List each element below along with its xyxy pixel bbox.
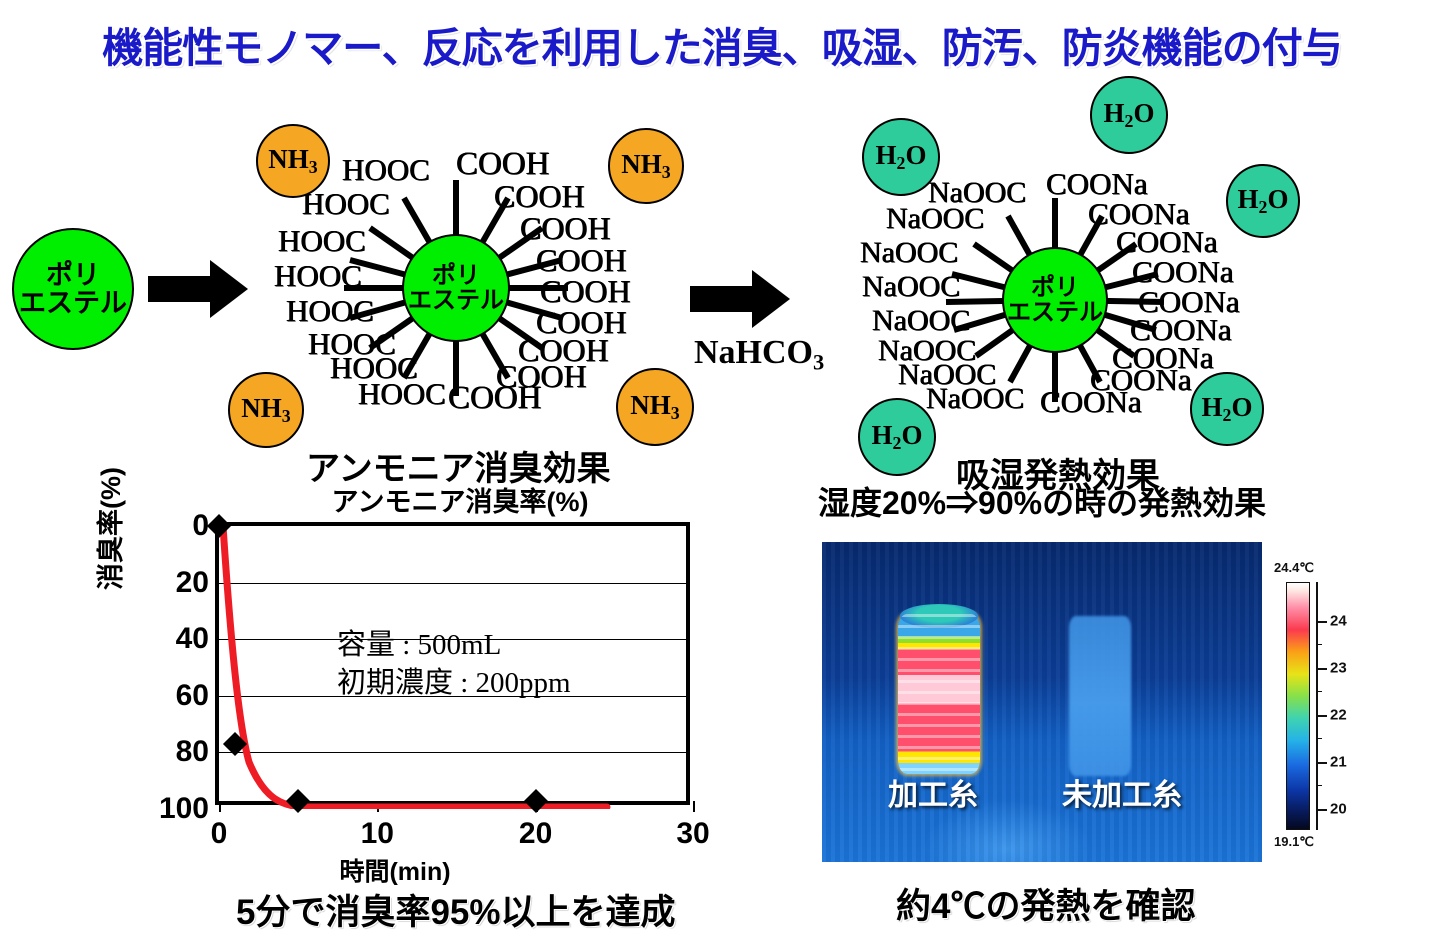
- temperature-colorbar: [1286, 582, 1310, 830]
- thermal-image-block: 加工糸 未加工糸 24.4℃ 19.1℃ 24 23 22 21 20: [822, 542, 1350, 862]
- thermal-heading: 湿度20%⇒90%の時の発熱効果: [818, 478, 1266, 524]
- chart-annotation: 容量 : 500mL: [337, 621, 501, 663]
- ligand-hooc: HOOC: [302, 188, 390, 219]
- polyester-line1: ポリ: [1031, 275, 1079, 300]
- arrow-shaft: [690, 286, 756, 312]
- h2o-formula: H2O: [876, 142, 927, 173]
- chart-x-axis-label: 時間(min): [339, 852, 450, 888]
- arrow-head: [752, 270, 790, 328]
- colorbar-tick: [1316, 668, 1327, 670]
- polyester-circle-start: ポリ エステル: [12, 228, 134, 350]
- h2o-molecule: H2O: [1190, 372, 1264, 446]
- arrow-head: [210, 260, 248, 318]
- h2o-molecule: H2O: [1090, 76, 1168, 154]
- reaction-arrow-1: [148, 260, 252, 318]
- nh3-formula: NH3: [241, 395, 290, 426]
- colorbar-tick-label: 21: [1330, 754, 1347, 771]
- ligand-cooh: COOH: [448, 382, 542, 415]
- sample-ribs: [898, 614, 980, 774]
- x-tick-label: 30: [676, 817, 709, 851]
- polyester-circle-carboxyl: ポリ エステル: [402, 234, 510, 342]
- ligand-cooh: COOH: [536, 244, 627, 276]
- h2o-formula: H2O: [1104, 100, 1155, 131]
- h2o-molecule: H2O: [862, 118, 940, 196]
- h2o-formula: H2O: [1202, 394, 1253, 425]
- thermal-photo: 加工糸 未加工糸: [822, 542, 1262, 862]
- ligand-hooc: HOOC: [274, 260, 362, 291]
- y-tick-label: 40: [176, 622, 209, 656]
- reagent-label: NaHCO3: [694, 334, 824, 376]
- colorbar-tick: [1316, 809, 1327, 811]
- slide-root: 機能性モノマー、反応を利用した消臭、吸湿、防汚、防炎機能の付与 ポリ エステル: [0, 0, 1444, 952]
- colorbar-max-label: 24.4℃: [1274, 560, 1314, 576]
- h2o-molecule: H2O: [858, 398, 936, 476]
- h2o-formula: H2O: [1238, 186, 1289, 217]
- ligand-hooc: HOOC: [286, 295, 374, 326]
- polyester-line2: エステル: [408, 288, 504, 313]
- colorbar-min-label: 19.1℃: [1274, 834, 1314, 850]
- ligand-coona: COONa: [1040, 386, 1142, 417]
- unprocessed-yarn-sample: [1069, 616, 1131, 776]
- chart-y-axis-label: 消臭率(%): [89, 467, 128, 590]
- polyester-line2: エステル: [1007, 300, 1103, 325]
- ligand-naooc: NaOOC: [886, 204, 984, 234]
- polyester-circle-carboxylate: ポリ エステル: [1002, 247, 1108, 353]
- ligand-cooh: COOH: [520, 212, 611, 244]
- thermal-caption: 約4℃の発熱を確認: [896, 878, 1195, 929]
- chart-plot-area: 0 20 40 60 80 100 0 10 20 30: [215, 522, 690, 805]
- colorbar-tick-label: 23: [1330, 660, 1347, 677]
- y-tick-label: 100: [159, 792, 209, 826]
- ligand-cooh: COOH: [456, 148, 550, 181]
- colorbar-minor-tick: [1316, 738, 1322, 739]
- ligand-hooc: HOOC: [278, 225, 366, 256]
- ligand-hooc: HOOC: [358, 378, 446, 409]
- processed-yarn-label: 加工糸: [888, 770, 978, 814]
- chart-title: アンモニア消臭率(%): [295, 480, 625, 519]
- colorbar-tick-label: 22: [1330, 707, 1347, 724]
- ligand-cooh: COOH: [494, 180, 585, 212]
- colorbar-tick: [1316, 762, 1327, 764]
- ligand-naooc: NaOOC: [862, 272, 960, 302]
- colorbar-minor-tick: [1316, 644, 1322, 645]
- thermal-noise-overlay: [822, 542, 1262, 862]
- colorbar-tick: [1316, 715, 1327, 717]
- nh3-molecule: NH3: [616, 368, 694, 446]
- colorbar-minor-tick: [1316, 691, 1322, 692]
- colorbar-tick-label: 24: [1330, 613, 1347, 630]
- polyester-line1: ポリ: [432, 263, 480, 288]
- nh3-formula: NH3: [268, 146, 317, 177]
- x-tick-label: 10: [361, 817, 394, 851]
- colorbar-tick: [1316, 621, 1327, 623]
- chart-caption: 5分で消臭率95%以上を達成: [236, 884, 676, 935]
- reaction-arrow-2: [690, 270, 794, 328]
- nh3-molecule: NH3: [256, 124, 330, 198]
- polyester-line2: エステル: [19, 289, 127, 317]
- arrow-shaft: [148, 276, 214, 302]
- ligand-hooc: HOOC: [342, 154, 430, 185]
- x-tick-label: 20: [519, 817, 552, 851]
- colorbar-minor-tick: [1316, 785, 1322, 786]
- nh3-molecule: NH3: [608, 128, 684, 204]
- y-tick-label: 20: [176, 566, 209, 600]
- h2o-molecule: H2O: [1226, 164, 1300, 238]
- y-tick-label: 60: [176, 679, 209, 713]
- page-title: 機能性モノマー、反応を利用した消臭、吸湿、防汚、防炎機能の付与: [0, 14, 1444, 74]
- nh3-formula: NH3: [621, 151, 670, 182]
- ligand-coona: COONa: [1046, 168, 1148, 199]
- nh3-formula: NH3: [630, 392, 679, 423]
- unprocessed-yarn-label: 未加工糸: [1062, 770, 1182, 814]
- y-tick-label: 80: [176, 735, 209, 769]
- ligand-coona: COONa: [1116, 226, 1218, 257]
- x-tick-label: 0: [211, 817, 228, 851]
- ammonia-deodorization-chart: アンモニア消臭率(%) 消臭率(%) 時間(min) 0 20 40 60 80…: [95, 480, 735, 880]
- colorbar-axis: [1316, 582, 1318, 830]
- ligand-cooh: COOH: [540, 275, 631, 307]
- ligand-naooc: NaOOC: [860, 238, 958, 268]
- ligand-coona: COONa: [1132, 256, 1234, 287]
- colorbar-tick-label: 20: [1330, 801, 1347, 818]
- ligand-naooc: NaOOC: [926, 384, 1024, 414]
- processed-yarn-sample: [898, 614, 980, 774]
- nh3-molecule: NH3: [228, 372, 304, 448]
- h2o-formula: H2O: [872, 422, 923, 453]
- polyester-line1: ポリ: [46, 261, 100, 289]
- chart-annotation: 初期濃度 : 200ppm: [337, 659, 571, 701]
- ligand-naooc: NaOOC: [872, 306, 970, 336]
